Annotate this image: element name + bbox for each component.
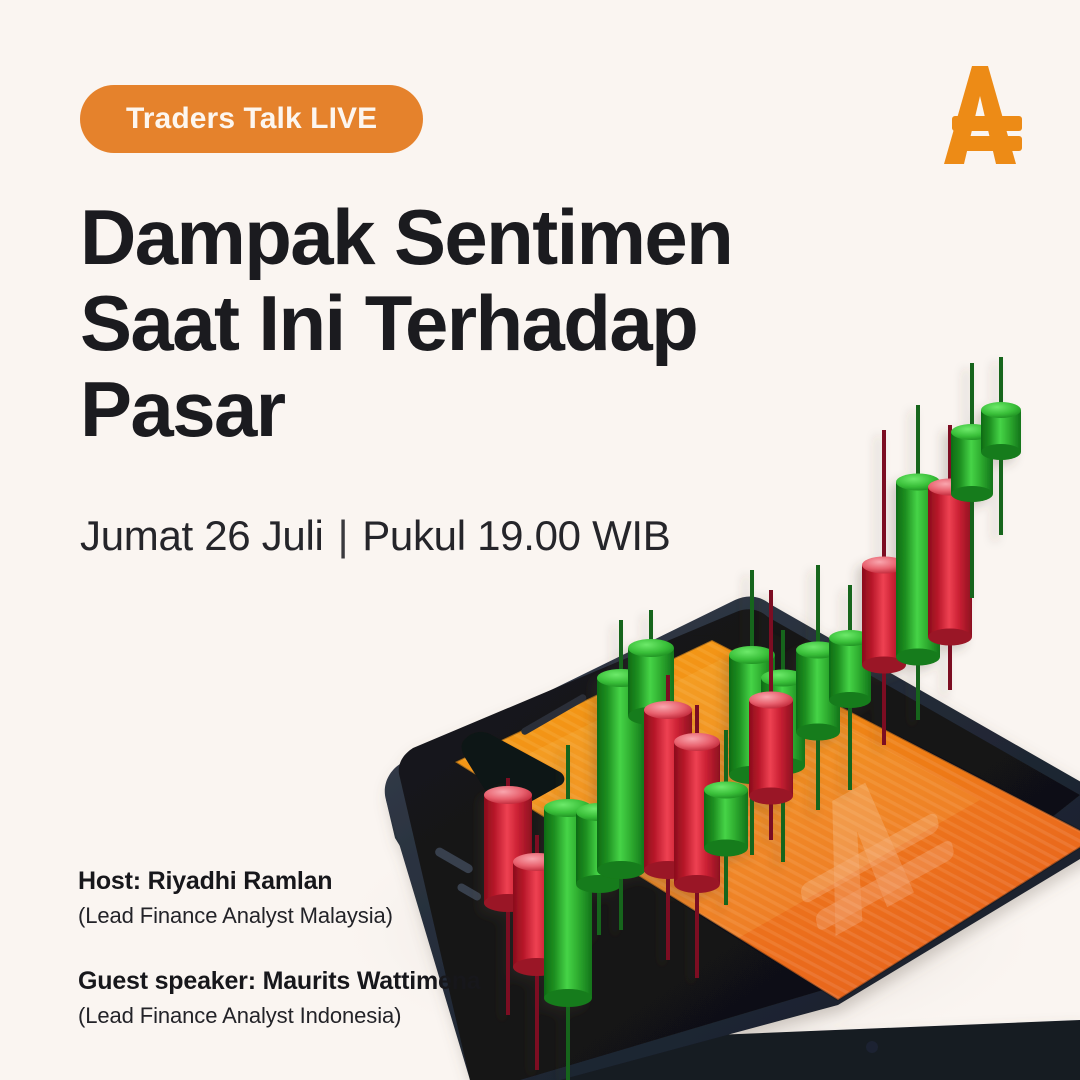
- guest-role: (Lead Finance Analyst Indonesia): [78, 1000, 481, 1032]
- host-name: Host: Riyadhi Ramlan: [78, 865, 481, 898]
- guest-name: Guest speaker: Maurits Wattimena: [78, 965, 481, 998]
- headline-line-2: Saat Ini Terhadap: [80, 281, 840, 367]
- phone-3d: [385, 597, 1080, 1080]
- candle-2-bear: [513, 835, 561, 1070]
- poster-canvas: Traders Talk LIVE Dampak Sentimen Saat I…: [0, 0, 1080, 1080]
- phone-bottom-dot: [866, 1041, 878, 1053]
- speakers-section: Host: Riyadhi Ramlan (Lead Finance Analy…: [78, 865, 481, 1066]
- phone-speaker: [520, 693, 588, 736]
- candle-16-bull: [896, 405, 940, 720]
- candle-9-bull: [704, 730, 748, 905]
- candle-11-bull: [761, 630, 805, 862]
- candle-15-bear: [862, 430, 906, 745]
- headline-line-3: Pasar: [80, 367, 840, 453]
- event-datetime: Jumat 26 Juli | Pukul 19.00 WIB: [80, 512, 671, 560]
- page-title: Dampak Sentimen Saat Ini Terhadap Pasar: [80, 195, 840, 452]
- phone-notch: [462, 732, 565, 812]
- traders-talk-live-badge[interactable]: Traders Talk LIVE: [80, 85, 423, 153]
- candle-12-bear: [749, 590, 793, 840]
- badge-label: Traders Talk LIVE: [126, 102, 377, 136]
- host-role: (Lead Finance Analyst Malaysia): [78, 900, 481, 932]
- candle-13-bull: [796, 565, 840, 810]
- phone-screen: [400, 600, 1080, 1060]
- ascendex-a-logo: [930, 60, 1030, 170]
- screen-watermark-a-logo: [787, 746, 957, 948]
- candle-18-bull: [951, 363, 993, 598]
- candle-19-bull: [981, 357, 1021, 535]
- phone-side-bottom: [545, 1020, 1080, 1080]
- phone-bezel: [399, 609, 1080, 1080]
- candle-4-bull: [576, 735, 622, 935]
- host-block: Host: Riyadhi Ramlan (Lead Finance Analy…: [78, 865, 481, 931]
- candle-3-bull: [544, 745, 592, 1080]
- candle-10-bull: [729, 570, 775, 855]
- candlestick-group: [484, 357, 1021, 1080]
- candle-8-bear: [674, 705, 720, 978]
- candle-14-bull: [829, 585, 871, 790]
- event-time: Pukul 19.00 WIB: [362, 512, 670, 560]
- guest-block: Guest speaker: Maurits Wattimena (Lead F…: [78, 965, 481, 1031]
- datetime-separator: |: [338, 512, 349, 560]
- candle-6-bull: [628, 610, 674, 840]
- candle-5-bull: [597, 620, 645, 930]
- event-date: Jumat 26 Juli: [80, 512, 324, 560]
- candle-7-bear: [644, 675, 692, 960]
- headline-line-1: Dampak Sentimen: [80, 195, 840, 281]
- candle-17-bear: [928, 425, 972, 690]
- phone-body: [385, 597, 1080, 1080]
- candle-1-bear: [484, 778, 532, 1015]
